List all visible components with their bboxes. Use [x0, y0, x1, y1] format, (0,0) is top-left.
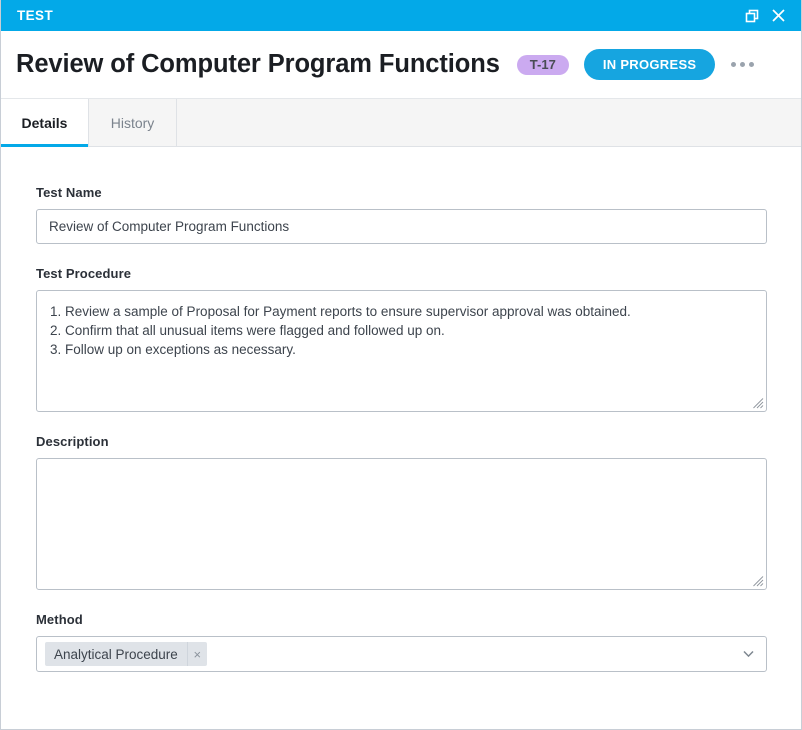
resize-grip-icon[interactable] [752, 575, 764, 587]
test-procedure-label: Test Procedure [36, 266, 766, 281]
field-description: Description [36, 434, 766, 590]
field-test-procedure: Test Procedure 1. Review a sample of Pro… [36, 266, 766, 412]
chevron-down-icon [743, 651, 754, 658]
test-name-input[interactable] [36, 209, 767, 244]
test-detail-window: TEST Review of Computer Program Function… [0, 0, 802, 730]
resize-grip-icon[interactable] [752, 397, 764, 409]
method-label: Method [36, 612, 766, 627]
description-label: Description [36, 434, 766, 449]
tab-history[interactable]: History [89, 99, 177, 146]
field-test-name: Test Name [36, 185, 766, 244]
restore-window-icon[interactable] [739, 3, 765, 29]
method-select[interactable]: Analytical Procedure × [36, 636, 767, 672]
procedure-line: 2. Confirm that all unusual items were f… [50, 321, 753, 340]
more-options-icon[interactable] [729, 56, 756, 73]
page-title: Review of Computer Program Functions [16, 50, 500, 79]
method-chip-label: Analytical Procedure [45, 642, 187, 666]
procedure-line: 3. Follow up on exceptions as necessary. [50, 340, 753, 359]
test-name-label: Test Name [36, 185, 766, 200]
method-chip-remove-icon[interactable]: × [187, 642, 207, 666]
method-chip: Analytical Procedure × [45, 642, 207, 666]
status-badge[interactable]: IN PROGRESS [584, 49, 716, 80]
details-form: Test Name Test Procedure 1. Review a sam… [1, 147, 801, 729]
tab-details[interactable]: Details [1, 99, 89, 146]
window-titlebar: TEST [1, 0, 801, 31]
record-header: Review of Computer Program Functions T-1… [1, 31, 801, 99]
tab-bar: Details History [1, 99, 801, 147]
procedure-line: 1. Review a sample of Proposal for Payme… [50, 302, 753, 321]
window-title: TEST [17, 8, 739, 23]
description-textarea[interactable] [36, 458, 767, 590]
record-id-badge: T-17 [517, 55, 569, 75]
field-method: Method Analytical Procedure × [36, 612, 766, 672]
close-icon[interactable] [765, 3, 791, 29]
test-procedure-textarea[interactable]: 1. Review a sample of Proposal for Payme… [36, 290, 767, 412]
